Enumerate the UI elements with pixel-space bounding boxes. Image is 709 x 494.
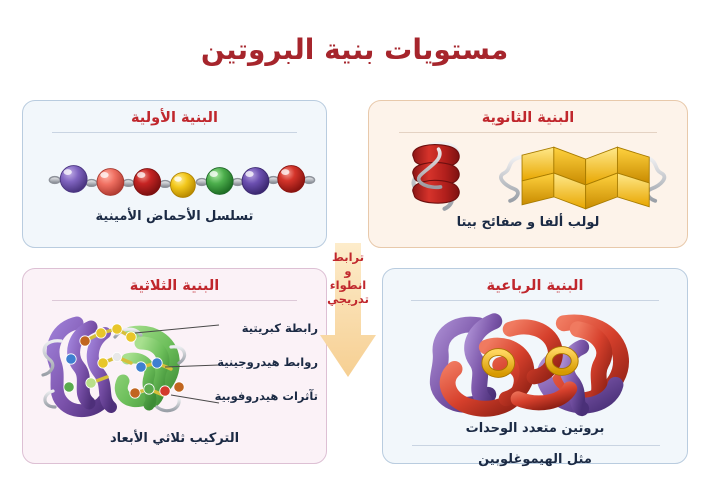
panel-primary-structure: البنية الأولية	[22, 100, 327, 248]
panel-quaternary-heading: البنية الرباعية	[383, 269, 687, 294]
hemoglobin-subunits-illustration	[383, 303, 687, 421]
panel-secondary-caption: لولب ألفا و صفائح بيتا	[369, 215, 687, 230]
page-title: مستويات بنية البروتين	[0, 33, 709, 66]
tertiary-label-hydrogen: روابط هيدروجينية	[168, 345, 318, 379]
amino-acid-chain-illustration	[23, 153, 326, 208]
panel-tertiary-divider	[52, 300, 297, 301]
panel-primary-divider	[52, 132, 297, 133]
alpha-helix-illustration	[413, 144, 460, 209]
tertiary-label-list: رابطة كبريتية روابط هيدروجينية تآثرات هي…	[168, 311, 318, 413]
panel-primary-heading: البنية الأولية	[23, 101, 326, 126]
panel-quaternary-caption-line1: بروتين متعدد الوحدات	[383, 421, 687, 436]
beta-sheet-illustration	[501, 147, 665, 209]
panel-secondary-divider	[399, 132, 657, 133]
panel-tertiary-structure: البنية الثلاثية	[22, 268, 327, 464]
panel-tertiary-heading: البنية الثلاثية	[23, 269, 326, 294]
flow-arrow-line-1: ترابط	[318, 250, 378, 264]
panel-secondary-heading: البنية الثانوية	[369, 101, 687, 126]
panel-quaternary-structure: البنية الرباعية	[382, 268, 688, 464]
panel-primary-caption: تسلسل الأحماض الأمينية	[23, 209, 326, 224]
flow-arrow-line-4: تدريجي	[318, 292, 378, 306]
panel-quaternary-caption-line2: مثل الهيموغلوبين	[383, 452, 687, 467]
flow-arrow-line-2: و	[318, 264, 378, 278]
flow-arrow-line-3: انطواء	[318, 278, 378, 292]
tertiary-label-hydrophobic: تآثرات هيدروفوبية	[168, 379, 318, 413]
panel-quaternary-divider	[411, 300, 659, 301]
tertiary-label-disulfide: رابطة كبريتية	[168, 311, 318, 345]
flow-arrow-label: ترابط و انطواء تدريجي	[318, 250, 378, 306]
secondary-structure-illustration	[369, 137, 687, 217]
panel-quaternary-caption-divider	[412, 445, 660, 446]
panel-tertiary-caption: التركيب ثلاثي الأبعاد	[23, 431, 326, 446]
panel-secondary-structure: البنية الثانوية	[368, 100, 688, 248]
